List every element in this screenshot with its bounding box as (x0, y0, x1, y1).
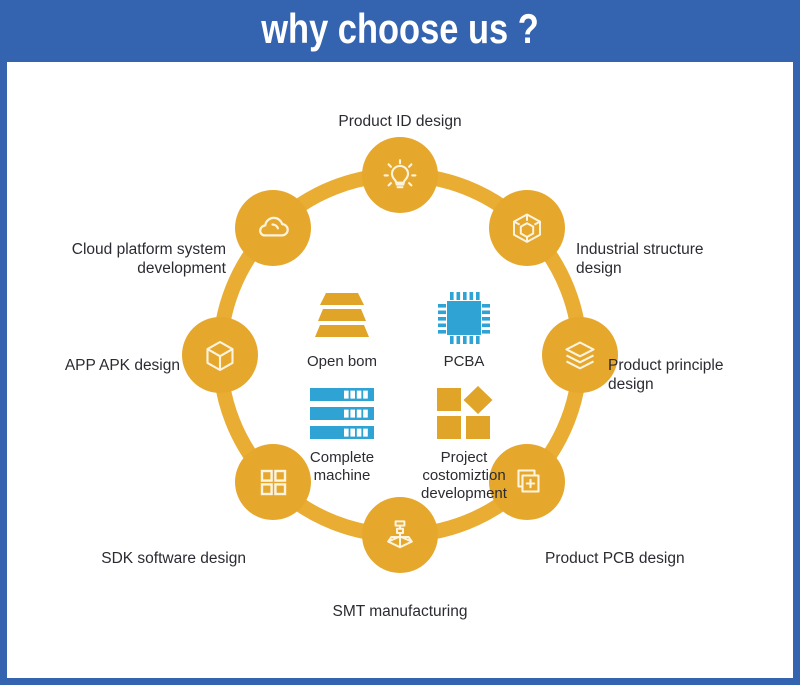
label-product-principle-design: Product principle design (608, 356, 798, 394)
squares-diamond-icon (408, 383, 520, 445)
smt-machine-icon (380, 515, 420, 555)
layers-icon (559, 334, 601, 376)
server-rack-icon (286, 383, 398, 445)
cloud-icon (252, 207, 294, 249)
node-app-apk-design[interactable] (182, 317, 258, 393)
label-sdk-software-design: SDK software design (20, 549, 246, 568)
title-banner: why choose us ? (0, 0, 800, 62)
poster-root: why choose us ? Product ID design (0, 0, 800, 685)
node-product-id-design[interactable] (362, 137, 438, 213)
node-cloud-platform-system[interactable] (235, 190, 311, 266)
node-industrial-structure-design[interactable] (489, 190, 565, 266)
node-smt-manufacturing[interactable] (362, 497, 438, 573)
label-cloud-platform-system: Cloud platform system development (14, 240, 226, 278)
cycle-diagram: Product ID design Industrial structure d… (0, 62, 800, 680)
label-smt-manufacturing: SMT manufacturing (275, 602, 525, 621)
center-item-pcba[interactable]: PCBA (408, 287, 520, 371)
microchip-icon (408, 287, 520, 349)
cube-3d-icon (507, 208, 547, 248)
lightbulb-icon (380, 155, 420, 195)
node-product-principle-design[interactable] (542, 317, 618, 393)
box-outline-icon (200, 335, 240, 375)
center-caption-project-customization: Project costomiztion development (408, 449, 520, 503)
center-item-open-bom[interactable]: Open bom (286, 287, 398, 371)
label-industrial-structure-design: Industrial structure design (576, 240, 791, 278)
center-item-complete-machine[interactable]: Complete machine (286, 383, 398, 485)
label-app-apk-design: APP APK design (20, 356, 180, 375)
center-icon-cluster: Open bom (286, 287, 516, 502)
label-product-id-design: Product ID design (275, 112, 525, 131)
page-title: why choose us ? (72, 0, 728, 62)
center-caption-pcba: PCBA (408, 353, 520, 371)
stacked-layers-icon (286, 287, 398, 349)
label-product-pcb-design: Product PCB design (545, 549, 785, 568)
center-caption-complete-machine: Complete machine (286, 449, 398, 485)
center-caption-open-bom: Open bom (286, 353, 398, 371)
center-item-project-customization[interactable]: Project costomiztion development (408, 383, 520, 503)
